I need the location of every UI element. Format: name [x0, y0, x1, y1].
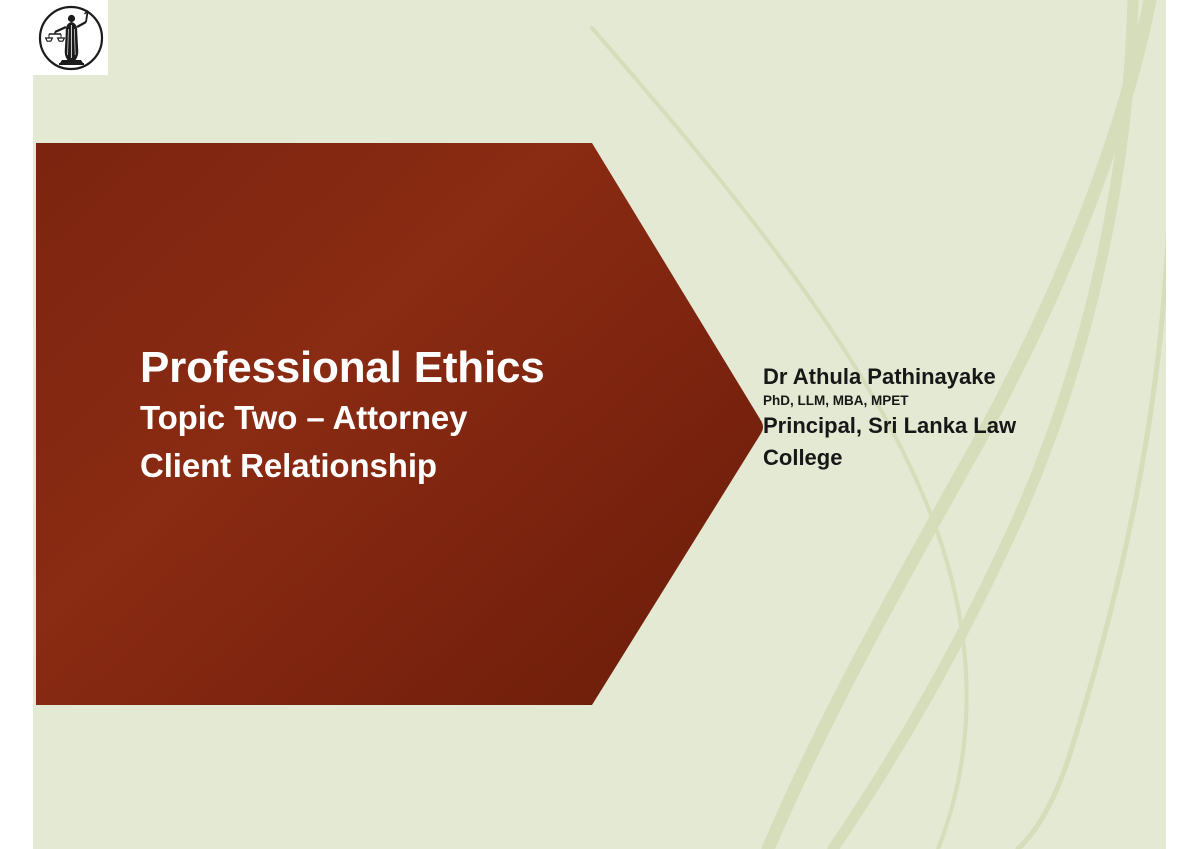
- slide-canvas: Professional Ethics Topic Two – Attorney…: [33, 0, 1166, 849]
- college-seal-logo: [33, 0, 108, 75]
- author-credentials: PhD, LLM, MBA, MPET: [763, 391, 1083, 410]
- author-name: Dr Athula Pathinayake: [763, 363, 1083, 391]
- slide-subtitle-line-2: Client Relationship: [140, 442, 610, 490]
- slide-subtitle-line-1: Topic Two – Attorney: [140, 394, 610, 442]
- slide-title: Professional Ethics: [140, 342, 610, 394]
- author-role-line-1: Principal, Sri Lanka Law: [763, 410, 1083, 442]
- presentation-slide: Professional Ethics Topic Two – Attorney…: [0, 0, 1200, 849]
- lady-justice-icon: [36, 3, 106, 73]
- author-info-group: Dr Athula Pathinayake PhD, LLM, MBA, MPE…: [763, 363, 1083, 474]
- author-role-line-2: College: [763, 442, 1083, 474]
- title-banner: Professional Ethics Topic Two – Attorney…: [36, 143, 763, 705]
- title-text-group: Professional Ethics Topic Two – Attorney…: [140, 342, 610, 490]
